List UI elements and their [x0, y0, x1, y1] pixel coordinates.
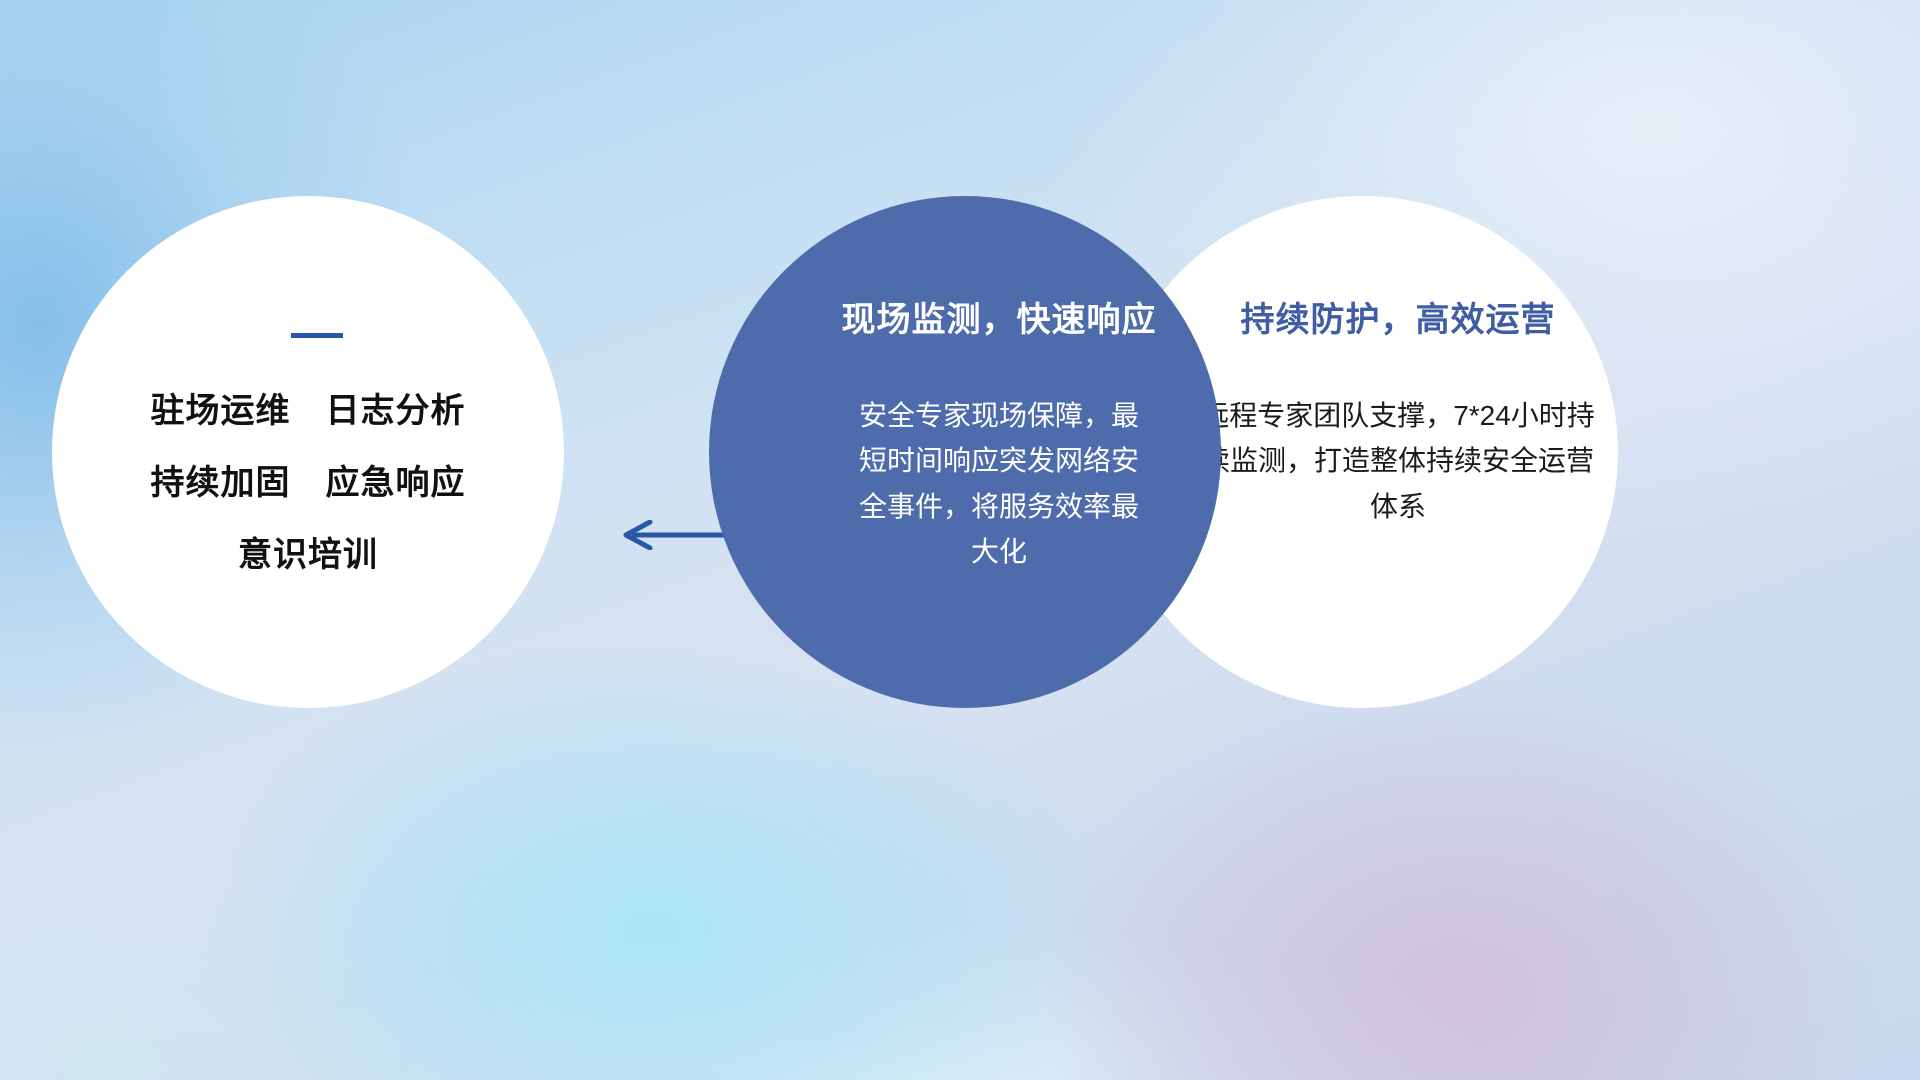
slide-canvas: 驻场运维 日志分析 持续加固 应急响应 意识培训 持续防护，高效运营 远程专家团…	[0, 0, 1920, 1080]
divider-line	[291, 333, 343, 338]
capability-line-2: 持续加固 应急响应	[151, 466, 466, 500]
remote-service-body: 远程专家团队支撑，7*24小时持续监测，打造整体持续安全运营体系	[1198, 393, 1598, 529]
onsite-service-body: 安全专家现场保障，最短时间响应突发网络安全事件，将服务效率最大化	[849, 393, 1149, 574]
onsite-service-title: 现场监测，快速响应	[842, 292, 1157, 341]
capability-circle[interactable]: 驻场运维 日志分析 持续加固 应急响应 意识培训	[52, 196, 564, 708]
capability-line-1: 驻场运维 日志分析	[151, 394, 466, 428]
capability-line-3: 意识培训	[238, 538, 378, 572]
onsite-service-circle[interactable]: 现场监测，快速响应 安全专家现场保障，最短时间响应突发网络安全事件，将服务效率最…	[709, 196, 1221, 708]
remote-service-title: 持续防护，高效运营	[1241, 292, 1556, 341]
